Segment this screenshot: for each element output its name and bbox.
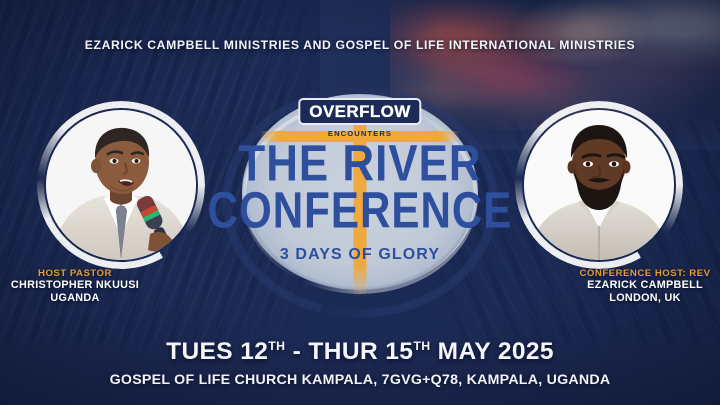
event-venue: GOSPEL OF LIFE CHURCH KAMPALA, 7GVG+Q78,… <box>0 372 720 388</box>
event-dateline: TUES 12TH - THUR 15TH MAY 2025 <box>0 338 720 366</box>
date-end: THUR 15 <box>308 338 413 365</box>
speaker-city-left: UGANDA <box>0 292 190 305</box>
event-flyer: EZARICK CAMPBELL MINISTRIES AND GOSPEL O… <box>0 0 720 405</box>
portrait-brush-ring-left <box>37 101 205 269</box>
date-month-year: MAY 2025 <box>430 338 553 365</box>
date-start: TUES 12 <box>166 338 268 365</box>
title-line-2: CONFERENCE <box>208 190 513 234</box>
speaker-role-left: HOST PASTOR <box>0 268 190 279</box>
speaker-city-right: LONDON, UK <box>530 292 720 305</box>
overflow-badge: OVERFLOW <box>298 98 421 125</box>
speaker-portrait-right <box>524 110 674 260</box>
date-separator: - <box>285 338 308 365</box>
speaker-caption-right: CONFERENCE HOST: REV EZARICK CAMPBELL LO… <box>530 268 720 304</box>
speaker-name-right: EZARICK CAMPBELL <box>530 279 720 292</box>
speaker-portrait-left <box>46 110 196 260</box>
date-start-suffix: TH <box>268 339 285 353</box>
speaker-role-right: CONFERENCE HOST: REV <box>530 268 720 279</box>
speaker-caption-left: HOST PASTOR CHRISTOPHER NKUUSI UGANDA <box>0 268 190 304</box>
portrait-brush-ring-right <box>515 101 683 269</box>
ministries-header: EZARICK CAMPBELL MINISTRIES AND GOSPEL O… <box>0 38 720 52</box>
overflow-badge-label: OVERFLOW <box>309 103 410 120</box>
tagline: 3 DAYS OF GLORY <box>280 246 440 264</box>
speaker-name-left: CHRISTOPHER NKUUSI <box>0 279 190 292</box>
conference-logo-block: OVERFLOW ENCOUNTERS THE RIVER CONFERENCE… <box>235 98 485 298</box>
date-end-suffix: TH <box>413 339 430 353</box>
title-line-1: THE RIVER <box>238 143 481 187</box>
